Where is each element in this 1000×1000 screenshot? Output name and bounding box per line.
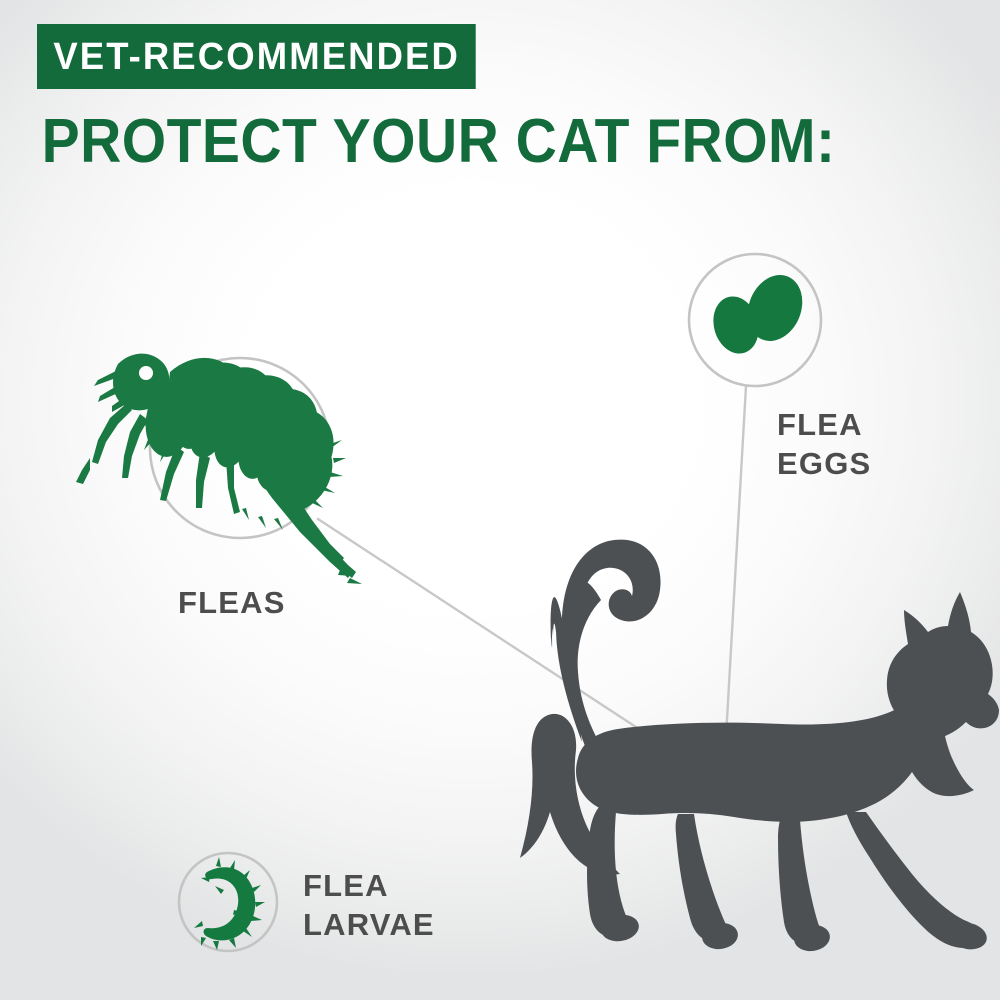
flea-leg-mid-2 — [196, 452, 210, 508]
callout-label-flea-larvae: FLEA LARVAE — [303, 866, 435, 945]
cat-silhouette — [520, 540, 999, 954]
flea-larva-body — [204, 867, 256, 940]
flea-leg-front-foot — [76, 458, 90, 484]
leader-lines — [318, 386, 746, 737]
flea-eye — [139, 366, 153, 380]
infographic-canvas: VET-RECOMMENDED PROTECT YOUR CAT FROM: — [0, 0, 1000, 1000]
flea-larva-icon — [194, 857, 265, 950]
callout-label-fleas: FLEAS — [178, 583, 286, 622]
flea-antenna-2 — [98, 384, 120, 402]
flea-leg-mid-3 — [226, 460, 240, 514]
flea-eggs-icon — [707, 267, 812, 359]
leader-line-flea-eggs — [726, 386, 746, 737]
callout-label-flea-eggs: FLEA EGGS — [777, 405, 871, 484]
cat-tail-upper — [562, 540, 661, 634]
cat-head — [887, 592, 999, 740]
artwork-layer — [0, 0, 1000, 1000]
flea-icon — [76, 354, 362, 584]
